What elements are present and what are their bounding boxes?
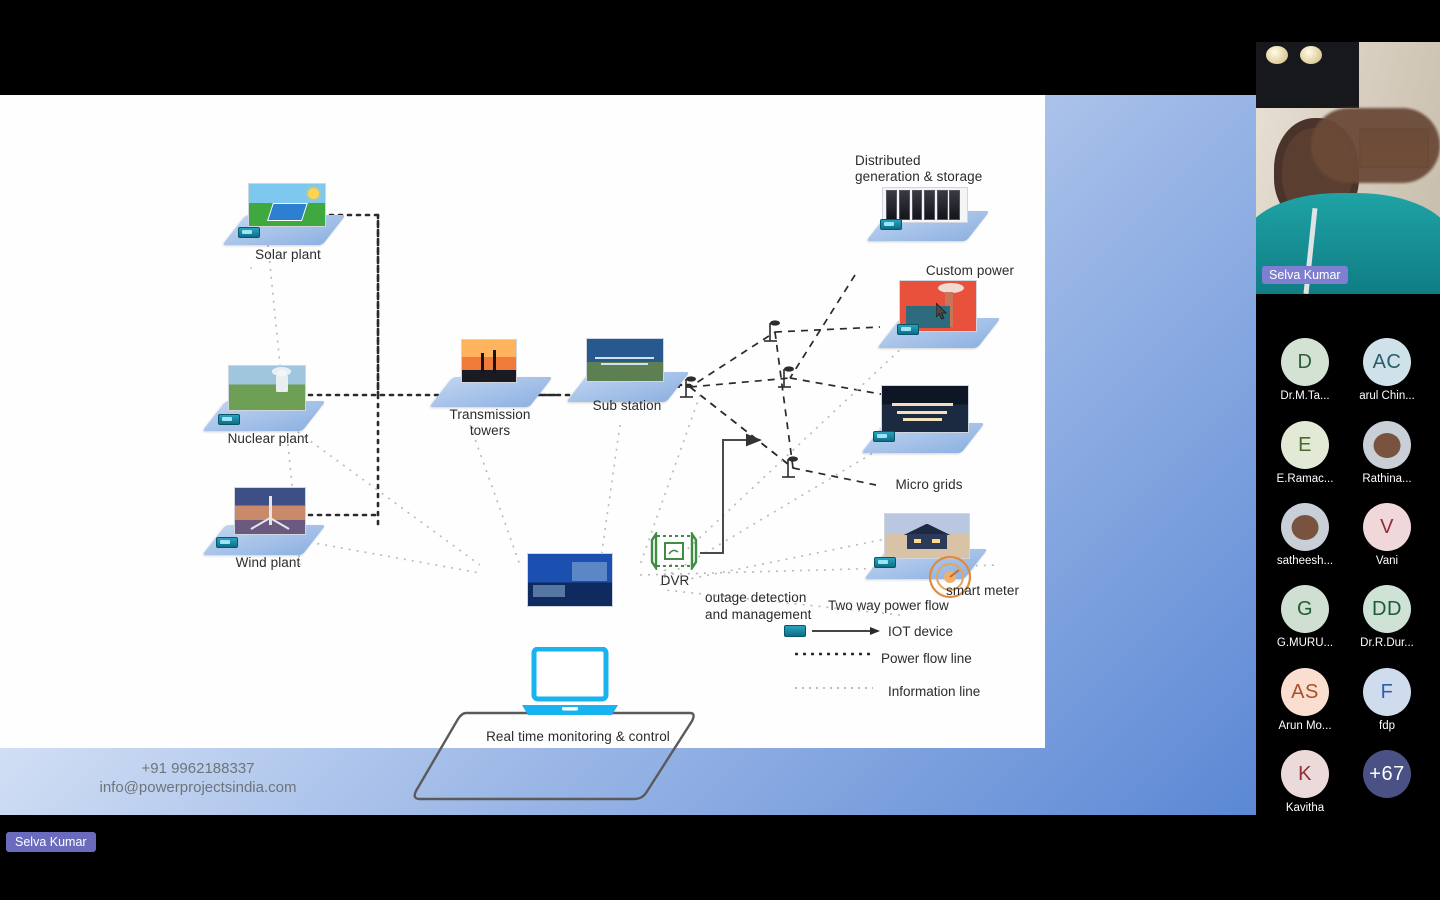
avatar: [1363, 421, 1411, 469]
participant-name: Vani: [1341, 555, 1433, 567]
participant-tile[interactable]: DDDr.R.Dur...: [1341, 585, 1433, 667]
avatar: AC: [1363, 338, 1411, 386]
speaker-name-badge: Selva Kumar: [1262, 266, 1348, 284]
participant-name: Kavitha: [1259, 802, 1351, 814]
sensor-pole-icon: [762, 317, 784, 350]
participant-name: satheesh...: [1259, 555, 1351, 567]
node-distributed-generation-storage[interactable]: [872, 187, 982, 247]
legend-information-line: Information line: [888, 684, 980, 699]
iot-chip-icon: [897, 324, 919, 335]
participant-name: Dr.M.Ta...: [1259, 390, 1351, 402]
participant-tile[interactable]: VVani: [1341, 503, 1433, 585]
legend-arrow-icon: [812, 625, 882, 637]
participant-tile[interactable]: DDr.M.Ta...: [1259, 338, 1351, 420]
participant-tile[interactable]: KKavitha: [1259, 750, 1351, 832]
screen: Solar plant Nuclear plant: [0, 0, 1440, 900]
node-label-transmission-2: towers: [429, 423, 551, 438]
node-label-solar: Solar plant: [230, 247, 346, 262]
node-label-nuclear: Nuclear plant: [200, 431, 336, 446]
avatar: D: [1281, 338, 1329, 386]
legend-information-line-sample: [795, 685, 873, 691]
ceiling-lamp-icon: [1300, 46, 1322, 64]
mouse-cursor: [936, 303, 948, 321]
avatar: G: [1281, 585, 1329, 633]
iot-chip-icon: [880, 219, 902, 230]
node-label-substation: Sub station: [564, 398, 690, 413]
legend-iot-chip-icon: [784, 625, 806, 637]
legend-two-way-power-flow: Two way power flow: [828, 598, 949, 613]
sensor-pole-icon: [780, 453, 802, 486]
contact-phone: +91 9962188337: [0, 760, 826, 777]
avatar: +67: [1363, 750, 1411, 798]
participant-tile[interactable]: satheesh...: [1259, 503, 1351, 585]
iot-chip-icon: [873, 431, 895, 442]
iot-chip-icon: [216, 537, 238, 548]
participant-tile[interactable]: GG.MURU...: [1259, 585, 1351, 667]
node-dvr-icon[interactable]: [650, 532, 698, 570]
node-label-dvr: DVR: [650, 573, 700, 588]
node-solar-plant[interactable]: Solar plant: [232, 175, 342, 275]
avatar-face: [1292, 515, 1319, 540]
avatar: V: [1363, 503, 1411, 551]
legend-power-line-sample: [795, 651, 873, 657]
legend-iot-device: IOT device: [888, 624, 953, 639]
iot-chip-icon: [218, 414, 240, 425]
node-label-dgs-2: generation & storage: [855, 169, 1045, 184]
node-wind-plant[interactable]: Wind plant: [212, 487, 322, 587]
node-label-dgs-1: Distributed: [855, 153, 1045, 168]
ceiling-lamp-icon: [1266, 46, 1288, 64]
avatar-face: [1374, 433, 1401, 458]
participant-tile[interactable]: EE.Ramac...: [1259, 421, 1351, 503]
avatar: E: [1281, 421, 1329, 469]
node-micro-grids[interactable]: Micro grids: [865, 385, 985, 465]
node-nuclear-plant[interactable]: Nuclear plant: [212, 365, 322, 465]
slide-content-panel: Solar plant Nuclear plant: [0, 95, 1045, 748]
avatar: F: [1363, 668, 1411, 716]
contact-email: info@powerprojectsindia.com: [0, 779, 826, 796]
node-label-custom-power: Custom power: [890, 263, 1050, 278]
participant-name: E.Ramac...: [1259, 473, 1351, 485]
legend-power-flow-line: Power flow line: [881, 651, 972, 666]
node-label-smart-meter: smart meter: [946, 583, 1066, 598]
participant-tile[interactable]: ASArun Mo...: [1259, 668, 1351, 750]
participant-name: fdp: [1341, 720, 1433, 732]
avatar: K: [1281, 750, 1329, 798]
speaker-hand: [1311, 108, 1440, 184]
avatar: [1281, 503, 1329, 551]
participants-rail: Selva Kumar DDr.M.Ta...ACarul Chin...EE.…: [1256, 0, 1440, 900]
participant-tile[interactable]: +67: [1341, 750, 1433, 832]
iot-chip-icon: [238, 227, 260, 238]
node-label-wind: Wind plant: [206, 555, 330, 570]
participant-name: Dr.R.Dur...: [1341, 637, 1433, 649]
participant-name: Arun Mo...: [1259, 720, 1351, 732]
node-control-center-photo[interactable]: [527, 553, 613, 607]
node-label-transmission-1: Transmission: [429, 407, 551, 422]
shared-slide-stage: Solar plant Nuclear plant: [0, 95, 1256, 815]
participant-name: G.MURU...: [1259, 637, 1351, 649]
participant-tile[interactable]: Ffdp: [1341, 668, 1433, 750]
participant-tile[interactable]: ACarul Chin...: [1341, 338, 1433, 420]
self-name-badge: Selva Kumar: [6, 832, 96, 852]
sensor-pole-icon: [776, 363, 798, 396]
participant-name: arul Chin...: [1341, 390, 1433, 402]
participant-tile[interactable]: Rathina...: [1341, 421, 1433, 503]
node-sub-station[interactable]: Sub station: [572, 330, 682, 440]
avatar: AS: [1281, 668, 1329, 716]
node-label-micro-grids: Micro grids: [859, 477, 999, 492]
laptop-icon: [520, 647, 620, 719]
node-transmission-towers[interactable]: Transmission towers: [435, 335, 545, 445]
active-speaker-video[interactable]: Selva Kumar: [1256, 42, 1440, 294]
avatar: DD: [1363, 585, 1411, 633]
iot-chip-icon: [874, 557, 896, 568]
participant-name: Rathina...: [1341, 473, 1433, 485]
sensor-pole-icon: [678, 373, 700, 406]
node-label-control: Real time monitoring & control: [470, 729, 686, 744]
